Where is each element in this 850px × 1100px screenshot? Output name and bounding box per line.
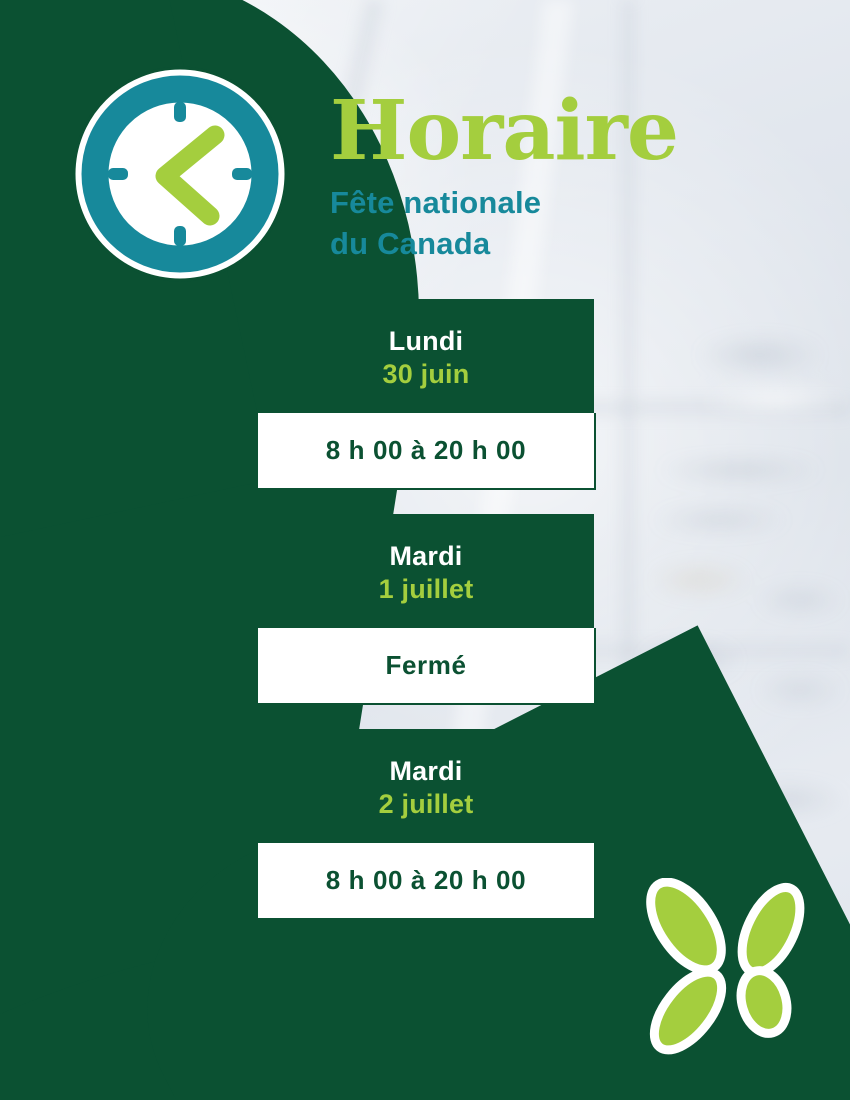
page-title: Horaire: [330, 92, 750, 171]
schedule-hours: Fermé: [268, 650, 584, 681]
schedule-date: 1 juillet: [268, 573, 584, 606]
poster-canvas: Horaire Fête nationale du Canada Lundi 3…: [0, 0, 850, 1100]
schedule-hours: 8 h 00 à 20 h 00: [268, 865, 584, 896]
schedule-card-header: Mardi 2 juillet: [258, 729, 594, 843]
schedule-card-body: 8 h 00 à 20 h 00: [256, 843, 596, 920]
schedule-list: Lundi 30 juin 8 h 00 à 20 h 00 Mardi 1 j…: [256, 299, 596, 944]
clock-icon: [72, 66, 288, 282]
schedule-card: Mardi 1 juillet Fermé: [256, 514, 596, 705]
schedule-card: Mardi 2 juillet 8 h 00 à 20 h 00: [256, 729, 596, 920]
schedule-day: Lundi: [268, 325, 584, 358]
page-subtitle: Fête nationale du Canada: [330, 183, 750, 265]
title-block: Horaire Fête nationale du Canada: [330, 92, 750, 265]
schedule-day: Mardi: [268, 540, 584, 573]
schedule-date: 2 juillet: [268, 788, 584, 821]
schedule-card: Lundi 30 juin 8 h 00 à 20 h 00: [256, 299, 596, 490]
butterfly-logo: [634, 878, 826, 1058]
schedule-card-header: Lundi 30 juin: [258, 299, 594, 413]
schedule-day: Mardi: [268, 755, 584, 788]
schedule-card-body: Fermé: [256, 628, 596, 705]
schedule-date: 30 juin: [268, 358, 584, 391]
schedule-card-body: 8 h 00 à 20 h 00: [256, 413, 596, 490]
schedule-hours: 8 h 00 à 20 h 00: [268, 435, 584, 466]
schedule-card-header: Mardi 1 juillet: [258, 514, 594, 628]
